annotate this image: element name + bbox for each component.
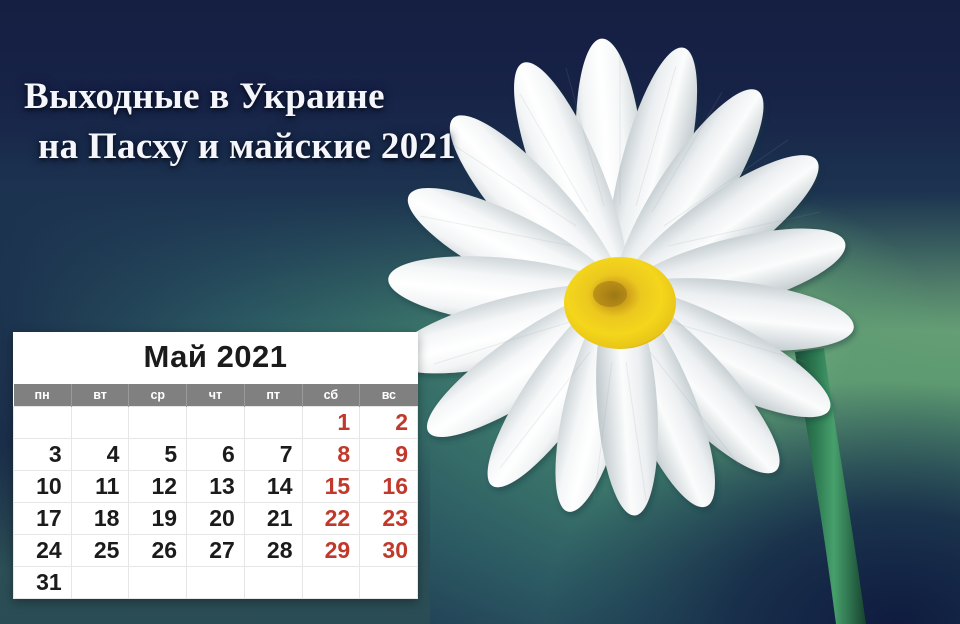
calendar-day-cell[interactable]: 1 — [302, 407, 360, 439]
calendar-day-empty — [71, 567, 129, 599]
calendar-day-empty — [360, 567, 418, 599]
calendar-day-empty — [187, 407, 245, 439]
calendar-day-cell[interactable]: 30 — [360, 535, 418, 567]
calendar-day-empty — [244, 407, 302, 439]
calendar-day-empty — [302, 567, 360, 599]
title-line-1: Выходные в Украине — [24, 76, 385, 117]
calendar-day-cell[interactable]: 27 — [187, 535, 245, 567]
calendar-day-cell[interactable]: 7 — [244, 439, 302, 471]
calendar-day-cell[interactable]: 20 — [187, 503, 245, 535]
calendar-day-empty — [244, 567, 302, 599]
calendar-day-cell[interactable]: 28 — [244, 535, 302, 567]
calendar-day-cell[interactable]: 10 — [14, 471, 72, 503]
weekday-header-sun: вс — [360, 384, 418, 407]
calendar-day-cell[interactable]: 31 — [14, 567, 72, 599]
weekday-header-tue: вт — [71, 384, 129, 407]
calendar-day-cell[interactable]: 23 — [360, 503, 418, 535]
calendar-day-cell[interactable]: 15 — [302, 471, 360, 503]
calendar-day-cell[interactable]: 21 — [244, 503, 302, 535]
calendar-day-cell[interactable]: 14 — [244, 471, 302, 503]
weekday-header-mon: пн — [14, 384, 72, 407]
poster-canvas: Выходные в Украине на Пасху и майские 20… — [0, 0, 960, 624]
calendar-week-row: 24252627282930 — [14, 535, 418, 567]
calendar-day-cell[interactable]: 11 — [71, 471, 129, 503]
calendar-day-cell[interactable]: 22 — [302, 503, 360, 535]
calendar-week-row: 10111213141516 — [14, 471, 418, 503]
calendar-day-cell[interactable]: 3 — [14, 439, 72, 471]
calendar-day-empty — [187, 567, 245, 599]
calendar-week-row: 31 — [14, 567, 418, 599]
weekday-header-fri: пт — [244, 384, 302, 407]
calendar-day-cell[interactable]: 26 — [129, 535, 187, 567]
calendar-week-row: 17181920212223 — [14, 503, 418, 535]
flower-center-shadow — [593, 281, 627, 307]
title-line-2: на Пасху и майские 2021 — [24, 122, 584, 172]
calendar-day-cell[interactable]: 29 — [302, 535, 360, 567]
calendar-day-cell[interactable]: 4 — [71, 439, 129, 471]
weekday-header-thu: чт — [187, 384, 245, 407]
calendar-week-row: 3456789 — [14, 439, 418, 471]
calendar-day-cell[interactable]: 6 — [187, 439, 245, 471]
calendar-day-cell[interactable]: 25 — [71, 535, 129, 567]
calendar-day-cell[interactable]: 8 — [302, 439, 360, 471]
calendar-day-cell[interactable]: 13 — [187, 471, 245, 503]
weekday-header-wed: ср — [129, 384, 187, 407]
calendar-day-cell[interactable]: 16 — [360, 471, 418, 503]
calendar-day-empty — [71, 407, 129, 439]
calendar-week-row: 12 — [14, 407, 418, 439]
calendar-day-cell[interactable]: 18 — [71, 503, 129, 535]
calendar-day-cell[interactable]: 2 — [360, 407, 418, 439]
calendar-day-empty — [129, 407, 187, 439]
calendar-day-cell[interactable]: 24 — [14, 535, 72, 567]
calendar-weekday-header-row: пн вт ср чт пт сб вс — [14, 384, 418, 407]
calendar-day-cell[interactable]: 9 — [360, 439, 418, 471]
calendar-body: 1234567891011121314151617181920212223242… — [14, 407, 418, 599]
calendar-day-empty — [14, 407, 72, 439]
calendar-day-cell[interactable]: 5 — [129, 439, 187, 471]
calendar-day-cell[interactable]: 17 — [14, 503, 72, 535]
calendar-day-cell[interactable]: 12 — [129, 471, 187, 503]
calendar-day-empty — [129, 567, 187, 599]
calendar-day-cell[interactable]: 19 — [129, 503, 187, 535]
calendar-month-title: Май 2021 — [13, 332, 418, 384]
poster-title: Выходные в Украине на Пасху и майские 20… — [24, 22, 584, 222]
calendar-table: пн вт ср чт пт сб вс 1234567891011121314… — [13, 384, 418, 599]
weekday-header-sat: сб — [302, 384, 360, 407]
calendar-widget: Май 2021 пн вт ср чт пт сб вс 1234567891… — [13, 332, 418, 599]
